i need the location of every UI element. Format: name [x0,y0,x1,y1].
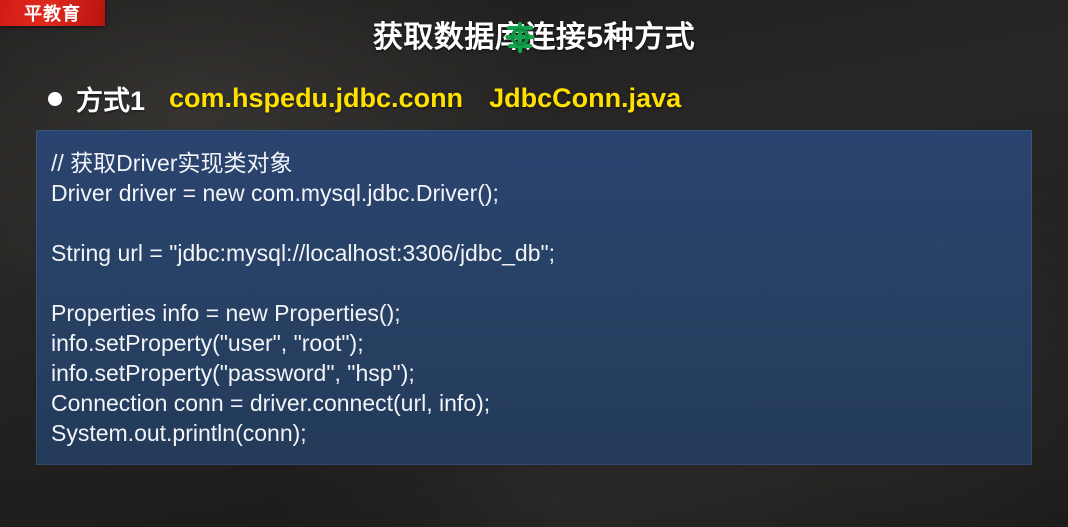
code-line: info.setProperty("user", "root"); [44,328,1032,358]
bullet-label: 方式1 [76,79,145,118]
code-line: Connection conn = driver.connect(url, in… [44,388,1032,418]
bullet-file-name: JdbcConn.java [489,83,681,114]
slide-title: 获取数据库连接5种方式 [0,12,1068,56]
bullet-row: 方式1 com.hspedu.jdbc.conn JdbcConn.java [48,79,681,118]
bullet-package-name: com.hspedu.jdbc.conn [169,83,463,114]
code-line: System.out.println(conn); [44,418,1032,448]
code-line: Properties info = new Properties(); [44,298,1032,328]
presentation-slide: 平教育 获取数据库连接5种方式 方式1 com.hspedu.jdbc.conn… [0,0,1068,527]
code-line: String url = "jdbc:mysql://localhost:330… [44,238,1032,268]
code-line-blank [44,208,1032,238]
bullet-dot-icon [48,92,62,106]
code-block: // 获取Driver实现类对象 Driver driver = new com… [36,130,1032,465]
code-line: Driver driver = new com.mysql.jdbc.Drive… [44,178,1032,208]
code-line-blank [44,268,1032,298]
code-line: // 获取Driver实现类对象 [44,148,1032,178]
code-line: info.setProperty("password", "hsp"); [44,358,1032,388]
